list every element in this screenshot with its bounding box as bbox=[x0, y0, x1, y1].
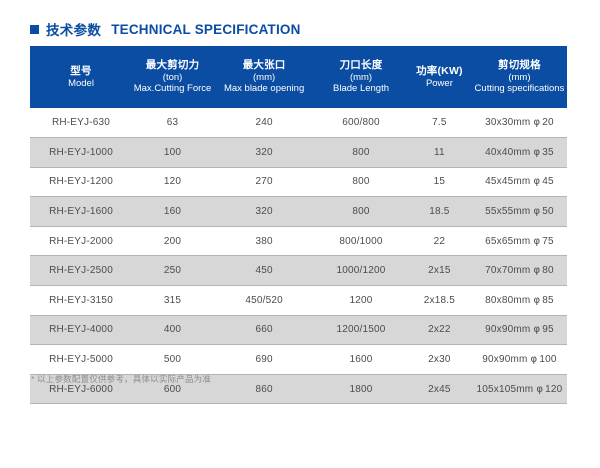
table-row: RH-EYJ-63063240600/8007.530x30mmφ20 bbox=[30, 108, 567, 138]
cell-max-blade-opening: 450/520 bbox=[213, 286, 315, 316]
cell-cutting-specifications: 90x90mmφ95 bbox=[472, 315, 567, 345]
column-header-en: Max blade opening bbox=[213, 83, 315, 95]
cell-model: RH-EYJ-1200 bbox=[30, 167, 132, 197]
column-header-en: Max.Cutting Force bbox=[132, 83, 213, 95]
cell-power: 2x30 bbox=[407, 345, 472, 375]
cell-max-blade-opening: 380 bbox=[213, 226, 315, 256]
table-row: RH-EYJ-10001003208001140x40mmφ35 bbox=[30, 138, 567, 168]
cell-max-blade-opening: 690 bbox=[213, 345, 315, 375]
column-header-max-blade-opening: 最大张口 (mm) Max blade opening bbox=[213, 46, 315, 108]
cell-max-cutting-force: 63 bbox=[132, 108, 213, 138]
cut-size-value: 40x40mm bbox=[485, 147, 530, 158]
cut-diameter-value: 80 bbox=[542, 265, 554, 276]
cell-blade-length: 800 bbox=[315, 138, 407, 168]
diameter-phi-icon: φ bbox=[533, 384, 545, 395]
cell-max-blade-opening: 270 bbox=[213, 167, 315, 197]
column-header-model: 型号 Model bbox=[30, 46, 132, 108]
cell-cutting-specifications: 65x65mmφ75 bbox=[472, 226, 567, 256]
section-heading: 技术参数 TECHNICAL SPECIFICATION bbox=[30, 19, 301, 39]
column-header-cn: 最大张口 bbox=[213, 59, 315, 72]
cut-size-value: 55x55mm bbox=[485, 206, 530, 217]
cell-cutting-specifications: 105x105mmφ120 bbox=[472, 374, 567, 404]
column-header-en: Blade Length bbox=[315, 83, 407, 95]
cell-power: 2x18.5 bbox=[407, 286, 472, 316]
column-header-power: 功率(KW) Power bbox=[407, 46, 472, 108]
diameter-phi-icon: φ bbox=[530, 117, 542, 128]
table-row: RH-EYJ-25002504501000/12002x1570x70mmφ80 bbox=[30, 256, 567, 286]
cell-model: RH-EYJ-1000 bbox=[30, 138, 132, 168]
cell-blade-length: 1800 bbox=[315, 374, 407, 404]
cell-blade-length: 1000/1200 bbox=[315, 256, 407, 286]
cell-power: 7.5 bbox=[407, 108, 472, 138]
cell-model: RH-EYJ-5000 bbox=[30, 345, 132, 375]
cut-diameter-value: 75 bbox=[542, 236, 554, 247]
cut-size-value: 105x105mm bbox=[476, 384, 533, 395]
cell-model: RH-EYJ-2000 bbox=[30, 226, 132, 256]
cell-model: RH-EYJ-2500 bbox=[30, 256, 132, 286]
cut-diameter-value: 20 bbox=[542, 117, 554, 128]
cell-cutting-specifications: 55x55mmφ50 bbox=[472, 197, 567, 227]
cell-max-blade-opening: 660 bbox=[213, 315, 315, 345]
column-header-cn: 型号 bbox=[30, 65, 132, 78]
spec-page: 技术参数 TECHNICAL SPECIFICATION 型号 Model 最大… bbox=[0, 0, 600, 468]
cell-max-blade-opening: 320 bbox=[213, 138, 315, 168]
column-header-cn: 功率(KW) bbox=[407, 65, 472, 78]
cut-diameter-value: 95 bbox=[542, 324, 554, 335]
cut-diameter-value: 100 bbox=[539, 354, 556, 365]
table-row: RH-EYJ-3150315450/52012002x18.580x80mmφ8… bbox=[30, 286, 567, 316]
column-header-unit: (ton) bbox=[132, 72, 213, 84]
cell-blade-length: 1200/1500 bbox=[315, 315, 407, 345]
cut-size-value: 30x30mm bbox=[485, 117, 530, 128]
specification-table: 型号 Model 最大剪切力 (ton) Max.Cutting Force 最… bbox=[30, 46, 567, 404]
table-row: RH-EYJ-12001202708001545x45mmφ45 bbox=[30, 167, 567, 197]
cell-power: 11 bbox=[407, 138, 472, 168]
table-header-row: 型号 Model 最大剪切力 (ton) Max.Cutting Force 最… bbox=[30, 46, 567, 108]
column-header-cutting-specifications: 剪切规格 (mm) Cutting specifications bbox=[472, 46, 567, 108]
column-header-en: Cutting specifications bbox=[472, 83, 567, 95]
table-row: RH-EYJ-160016032080018.555x55mmφ50 bbox=[30, 197, 567, 227]
cell-cutting-specifications: 90x90mmφ100 bbox=[472, 345, 567, 375]
cell-blade-length: 800/1000 bbox=[315, 226, 407, 256]
table-body: RH-EYJ-63063240600/8007.530x30mmφ20RH-EY… bbox=[30, 108, 567, 404]
cell-power: 22 bbox=[407, 226, 472, 256]
cut-diameter-value: 85 bbox=[542, 295, 554, 306]
section-title-cn: 技术参数 bbox=[46, 19, 101, 39]
cut-size-value: 90x90mm bbox=[482, 354, 527, 365]
column-header-unit: (mm) bbox=[315, 72, 407, 84]
column-header-en: Power bbox=[407, 78, 472, 90]
column-header-en: Model bbox=[30, 78, 132, 90]
table-header: 型号 Model 最大剪切力 (ton) Max.Cutting Force 最… bbox=[30, 46, 567, 108]
cell-cutting-specifications: 70x70mmφ80 bbox=[472, 256, 567, 286]
diameter-phi-icon: φ bbox=[530, 295, 542, 306]
cut-size-value: 65x65mm bbox=[485, 236, 530, 247]
cut-diameter-value: 50 bbox=[542, 206, 554, 217]
cut-size-value: 80x80mm bbox=[485, 295, 530, 306]
diameter-phi-icon: φ bbox=[528, 354, 540, 365]
column-header-unit: (mm) bbox=[213, 72, 315, 84]
cell-max-cutting-force: 500 bbox=[132, 345, 213, 375]
cell-max-cutting-force: 400 bbox=[132, 315, 213, 345]
cell-power: 15 bbox=[407, 167, 472, 197]
section-title-en: TECHNICAL SPECIFICATION bbox=[111, 22, 300, 37]
table-row: RH-EYJ-40004006601200/15002x2290x90mmφ95 bbox=[30, 315, 567, 345]
diameter-phi-icon: φ bbox=[530, 265, 542, 276]
cut-diameter-value: 45 bbox=[542, 176, 554, 187]
cell-blade-length: 800 bbox=[315, 197, 407, 227]
cell-cutting-specifications: 40x40mmφ35 bbox=[472, 138, 567, 168]
column-header-blade-length: 刀口长度 (mm) Blade Length bbox=[315, 46, 407, 108]
cut-size-value: 45x45mm bbox=[485, 176, 530, 187]
cell-max-cutting-force: 100 bbox=[132, 138, 213, 168]
cell-max-cutting-force: 120 bbox=[132, 167, 213, 197]
table-row: RH-EYJ-500050069016002x3090x90mmφ100 bbox=[30, 345, 567, 375]
cell-max-blade-opening: 450 bbox=[213, 256, 315, 286]
footnote-text: * 以上参数配置仅供参考，具体以实际产品为准 bbox=[31, 373, 211, 385]
cell-blade-length: 1600 bbox=[315, 345, 407, 375]
square-bullet-icon bbox=[30, 25, 39, 34]
cell-model: RH-EYJ-4000 bbox=[30, 315, 132, 345]
cell-cutting-specifications: 30x30mmφ20 bbox=[472, 108, 567, 138]
cell-cutting-specifications: 80x80mmφ85 bbox=[472, 286, 567, 316]
column-header-max-cutting-force: 最大剪切力 (ton) Max.Cutting Force bbox=[132, 46, 213, 108]
cell-model: RH-EYJ-3150 bbox=[30, 286, 132, 316]
column-header-cn: 刀口长度 bbox=[315, 59, 407, 72]
cell-max-blade-opening: 860 bbox=[213, 374, 315, 404]
cut-size-value: 90x90mm bbox=[485, 324, 530, 335]
diameter-phi-icon: φ bbox=[530, 147, 542, 158]
cell-max-blade-opening: 320 bbox=[213, 197, 315, 227]
column-header-cn: 最大剪切力 bbox=[132, 59, 213, 72]
column-header-cn: 剪切规格 bbox=[472, 59, 567, 72]
cell-model: RH-EYJ-630 bbox=[30, 108, 132, 138]
cell-model: RH-EYJ-1600 bbox=[30, 197, 132, 227]
cut-diameter-value: 120 bbox=[545, 384, 562, 395]
cell-blade-length: 800 bbox=[315, 167, 407, 197]
diameter-phi-icon: φ bbox=[530, 236, 542, 247]
diameter-phi-icon: φ bbox=[530, 324, 542, 335]
cell-max-cutting-force: 315 bbox=[132, 286, 213, 316]
cell-max-cutting-force: 250 bbox=[132, 256, 213, 286]
diameter-phi-icon: φ bbox=[530, 206, 542, 217]
table-row: RH-EYJ-2000200380800/10002265x65mmφ75 bbox=[30, 226, 567, 256]
cut-size-value: 70x70mm bbox=[485, 265, 530, 276]
cell-max-blade-opening: 240 bbox=[213, 108, 315, 138]
cell-power: 2x15 bbox=[407, 256, 472, 286]
cell-cutting-specifications: 45x45mmφ45 bbox=[472, 167, 567, 197]
specification-table-container: 型号 Model 最大剪切力 (ton) Max.Cutting Force 最… bbox=[30, 46, 567, 404]
cut-diameter-value: 35 bbox=[542, 147, 554, 158]
cell-power: 18.5 bbox=[407, 197, 472, 227]
cell-power: 2x45 bbox=[407, 374, 472, 404]
cell-blade-length: 600/800 bbox=[315, 108, 407, 138]
diameter-phi-icon: φ bbox=[530, 176, 542, 187]
cell-max-cutting-force: 160 bbox=[132, 197, 213, 227]
column-header-unit: (mm) bbox=[472, 72, 567, 84]
cell-blade-length: 1200 bbox=[315, 286, 407, 316]
cell-max-cutting-force: 200 bbox=[132, 226, 213, 256]
cell-power: 2x22 bbox=[407, 315, 472, 345]
